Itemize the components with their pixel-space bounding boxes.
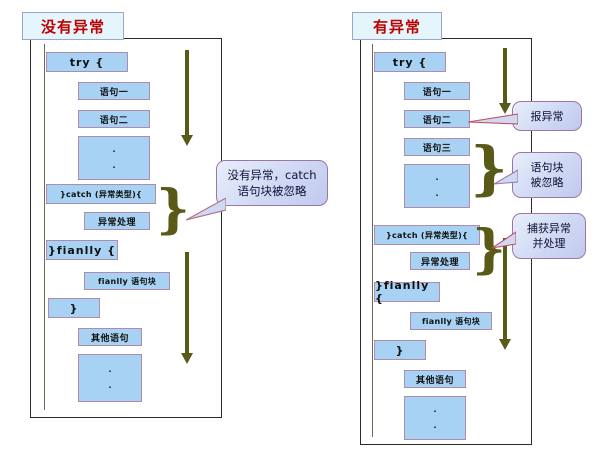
callout-line-2: 被忽略 [531,175,564,190]
ellipsis-dot: . [434,424,437,428]
block-statement-3-right: 语句三 [404,138,470,156]
panel-title-no-exception: 没有异常 [22,12,124,40]
block-finally-body-right: fianlly 语句块 [410,312,492,330]
block-other-statements-left: 其他语句 [78,328,142,346]
block-close-brace-right: } [374,340,426,360]
callout-line-1: 没有异常，catch [228,167,317,183]
diagram-canvas: 没有异常 try { 语句一 语句二 . . }catch (异常类型){ 异常… [0,0,600,462]
left-guide-line [44,44,45,410]
block-catch-right: }catch (异常类型){ [374,225,480,245]
ellipsis-dot: . [434,408,437,412]
ellipsis-dot: . [113,164,116,168]
callout-block-ignored-right: 语句块 被忽略 [512,152,582,198]
block-close-brace-left: } [48,298,100,318]
flow-arrow-top-left [180,50,194,146]
flow-arrow-top-right [498,48,512,114]
block-ellipsis-try-right: . . [404,164,470,208]
block-finally-body-left: fianlly 语句块 [84,272,170,290]
callout-catch-handled-right: 捕获异常 并处理 [512,213,586,259]
right-guide-line [372,44,373,437]
block-ellipsis-tail-left: . . [78,354,142,402]
block-statement-2-right: 语句二 [404,110,470,128]
block-ellipsis-try-left: . . [78,136,150,180]
callout-catch-ignored-left: 没有异常，catch 语句块被忽略 [216,160,328,206]
block-finally-right: }fianlly { [374,282,440,302]
ellipsis-dot: . [113,148,116,152]
block-exception-handling-right: 异常处理 [410,252,470,270]
block-other-statements-right: 其他语句 [404,370,466,388]
flow-arrow-bottom-left [180,252,194,364]
callout-line-1: 语句块 [531,160,564,175]
block-exception-handling-left: 异常处理 [84,212,150,230]
panel-title-with-exception: 有异常 [352,12,442,40]
callout-tail-handled-right [492,230,516,252]
block-finally-left: }fianlly { [46,240,118,260]
ellipsis-dot: . [109,368,112,372]
ellipsis-dot: . [436,192,439,196]
callout-throw-exception-right: 报异常 [512,101,582,131]
callout-tail-throw-right [468,112,518,132]
ellipsis-dot: . [436,176,439,180]
callout-line-1: 报异常 [531,109,564,124]
callout-tail-ignored-right [494,168,518,190]
block-try-right: try { [374,52,446,72]
block-statement-1-right: 语句一 [404,82,470,100]
block-statement-2-left: 语句二 [78,110,150,128]
callout-line-1: 捕获异常 [527,221,571,236]
ellipsis-dot: . [109,384,112,388]
brace-catch-left: } [162,178,184,240]
block-catch-left: }catch (异常类型){ [46,184,156,204]
callout-tail-left [186,196,226,222]
block-try-left: try { [46,52,128,72]
block-ellipsis-tail-right: . . [404,396,466,440]
callout-line-2: 并处理 [533,236,566,251]
block-statement-1-left: 语句一 [78,82,150,100]
callout-line-2: 语句块被忽略 [238,183,307,199]
